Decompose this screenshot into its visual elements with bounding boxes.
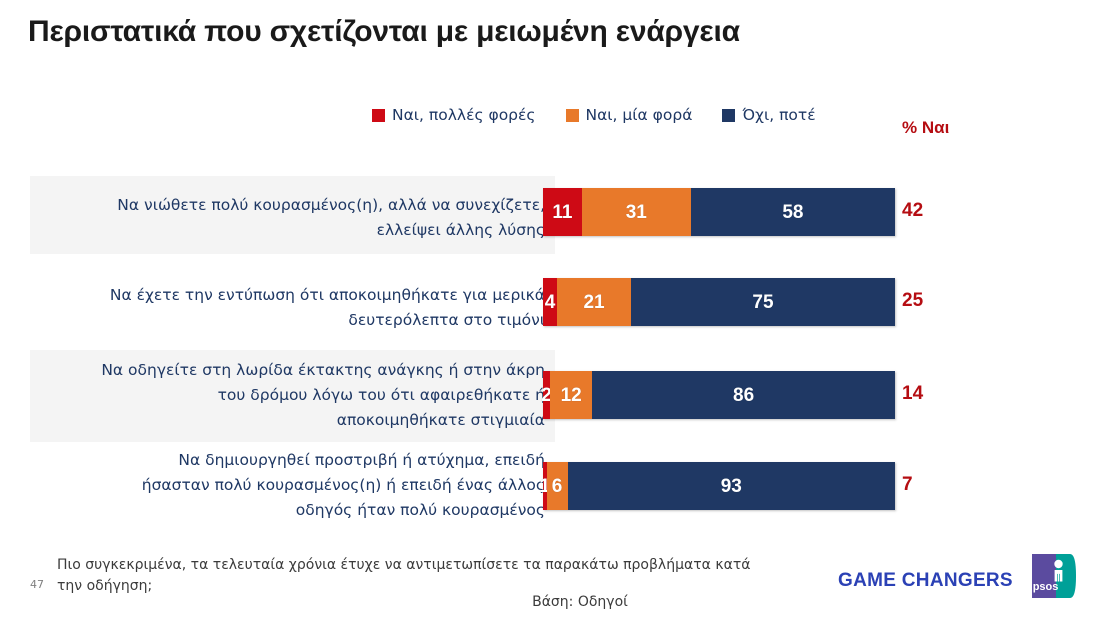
pct-yes-value: 42	[902, 200, 982, 222]
segment-value-label: 58	[782, 203, 803, 222]
stacked-bar[interactable]: 113158	[543, 188, 895, 236]
row-label-line: αποκοιμηθήκατε στιγμιαία	[40, 408, 545, 433]
game-changers-tagline: GAME CHANGERS	[838, 570, 1013, 592]
footnote-question: Πιο συγκεκριμένα, τα τελευταία χρόνια έτ…	[57, 555, 757, 597]
navy-segment[interactable]: 75	[631, 278, 895, 326]
row-label-line: Να νιώθετε πολύ κουρασμένος(η), αλλά να …	[40, 193, 545, 218]
navy-segment[interactable]: 86	[592, 371, 895, 419]
stacked-bar[interactable]: 42175	[543, 278, 895, 326]
svg-text:Ipsos: Ipsos	[1030, 581, 1058, 593]
pct-yes-value: 14	[902, 383, 982, 405]
segment-value-label: 12	[561, 386, 582, 405]
row-label-line: ήσασταν πολύ κουρασμένος(η) ή επειδή ένα…	[40, 473, 545, 498]
segment-value-label: 4	[545, 293, 556, 312]
segment-value-label: 21	[583, 293, 604, 312]
orange-segment[interactable]: 21	[557, 278, 631, 326]
row-category-label: Να δημιουργηθεί προστριβή ή ατύχημα, επε…	[40, 448, 545, 523]
row-label-line: του δρόμου λόγω του ότι αφαιρεθήκατε ή	[40, 383, 545, 408]
row-label-line: Να οδηγείτε στη λωρίδα έκτακτης ανάγκης …	[40, 358, 545, 383]
navy-segment[interactable]: 93	[568, 462, 895, 510]
orange-segment[interactable]: 12	[550, 371, 592, 419]
stacked-bar[interactable]: 21286	[543, 371, 895, 419]
row-label-line: Να δημιουργηθεί προστριβή ή ατύχημα, επε…	[40, 448, 545, 473]
row-label-line: Να έχετε την εντύπωση ότι αποκοιμηθήκατε…	[40, 283, 545, 308]
ipsos-logo: Ipsos	[1030, 552, 1078, 600]
navy-segment[interactable]: 58	[691, 188, 895, 236]
pct-yes-value: 7	[902, 474, 982, 496]
page-number: 47	[30, 578, 44, 591]
row-category-label: Να οδηγείτε στη λωρίδα έκτακτης ανάγκης …	[40, 358, 545, 433]
segment-value-label: 93	[721, 477, 742, 496]
row-label-line: δευτερόλεπτα στο τιμόνι	[40, 308, 545, 333]
row-category-label: Να νιώθετε πολύ κουρασμένος(η), αλλά να …	[40, 193, 545, 243]
red-segment[interactable]: 2	[543, 371, 550, 419]
segment-value-label: 86	[733, 386, 754, 405]
row-label-line: οδηγός ήταν πολύ κουρασμένος	[40, 498, 545, 523]
stacked-bar[interactable]: 1693	[543, 462, 895, 510]
segment-value-label: 6	[552, 477, 563, 496]
pct-yes-value: 25	[902, 290, 982, 312]
segment-value-label: 11	[552, 203, 572, 222]
orange-segment[interactable]: 6	[547, 462, 568, 510]
red-segment[interactable]: 4	[543, 278, 557, 326]
segment-value-label: 75	[752, 293, 773, 312]
orange-segment[interactable]: 31	[582, 188, 691, 236]
red-segment[interactable]: 11	[543, 188, 582, 236]
row-category-label: Να έχετε την εντύπωση ότι αποκοιμηθήκατε…	[40, 283, 545, 333]
segment-value-label: 31	[626, 203, 647, 222]
base-note: Βάση: Οδηγοί	[430, 594, 730, 610]
row-label-line: ελλείψει άλλης λύσης	[40, 218, 545, 243]
stacked-bar-chart: Να νιώθετε πολύ κουρασμένος(η), αλλά να …	[0, 0, 1100, 619]
